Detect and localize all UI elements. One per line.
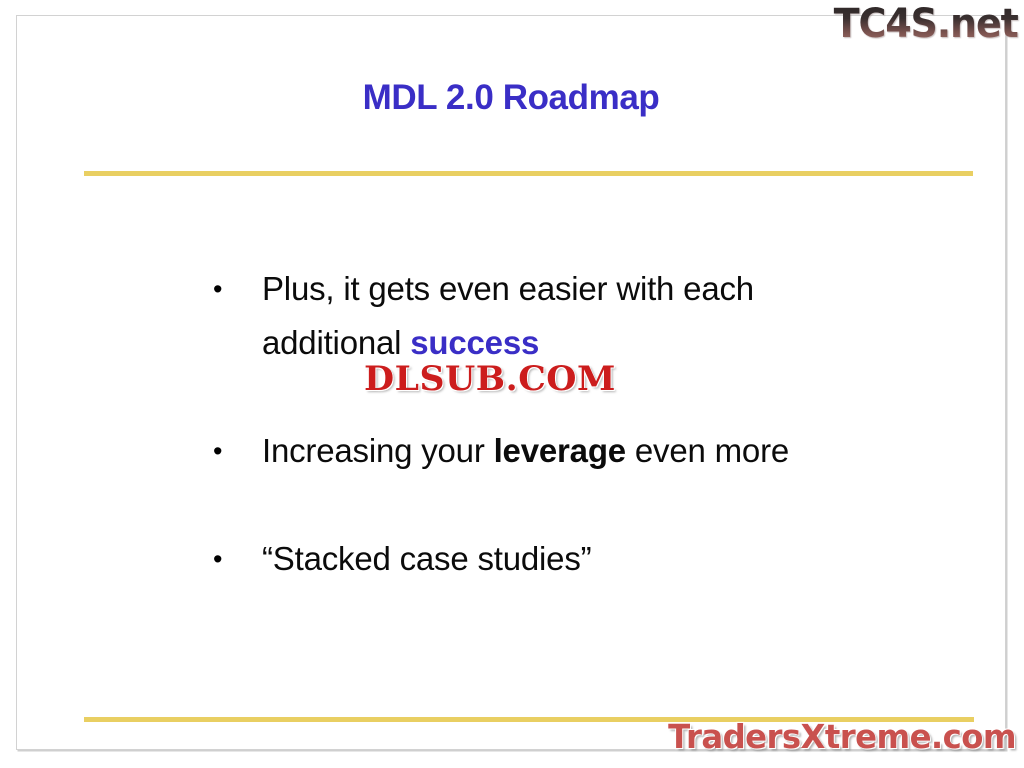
page-title: MDL 2.0 Roadmap (17, 78, 1005, 118)
list-item-highlight-leverage: leverage (494, 432, 626, 469)
watermark-tc4s: TC4S.net (834, 1, 1018, 47)
bullet-marker-icon: • (213, 424, 262, 478)
list-item-text: Plus, it gets even easier with each addi… (262, 262, 902, 370)
list-item-text-part: “Stacked case studies” (262, 540, 591, 577)
list-item-text-part: even more (626, 432, 789, 469)
divider-top (84, 171, 973, 176)
bullet-marker-icon: • (213, 262, 262, 316)
list-item-highlight-success: success (410, 324, 539, 361)
watermark-tradersxtreme: TradersXtreme.com (668, 717, 1016, 756)
list-gap-spacer (213, 478, 953, 532)
list-item-text: “Stacked case studies” (262, 532, 902, 586)
bullet-marker-icon: • (213, 532, 262, 586)
bullet-list: • Plus, it gets even easier with each ad… (213, 262, 953, 586)
list-item-text: Increasing your leverage even more (262, 424, 902, 478)
watermark-dlsub: DLSUB.COM (364, 359, 616, 399)
list-item-text-part: Increasing your (262, 432, 494, 469)
list-item: • Increasing your leverage even more (213, 424, 953, 478)
list-item: • “Stacked case studies” (213, 532, 953, 586)
list-item: • Plus, it gets even easier with each ad… (213, 262, 953, 370)
